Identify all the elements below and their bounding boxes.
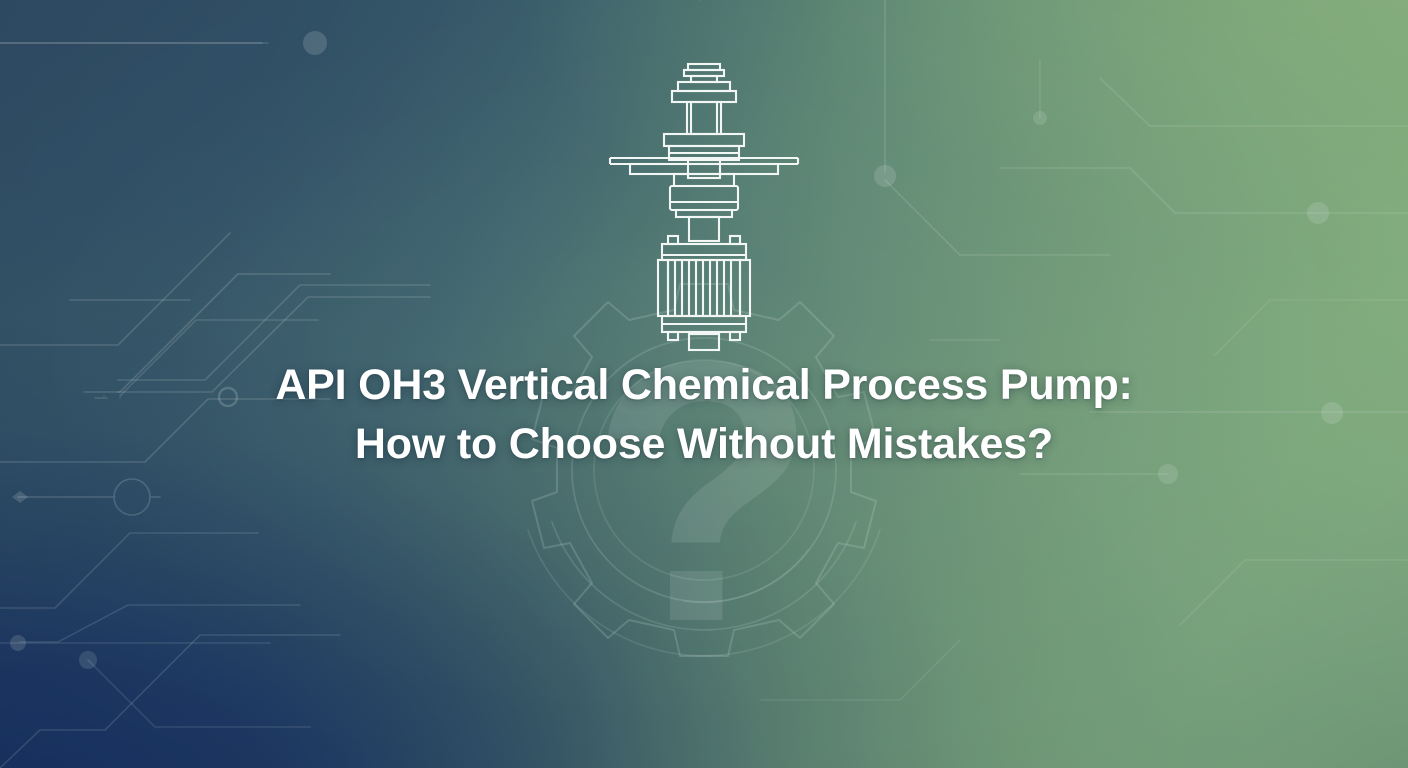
- vignette-overlay: [0, 0, 1408, 768]
- title-card: ?: [0, 0, 1408, 768]
